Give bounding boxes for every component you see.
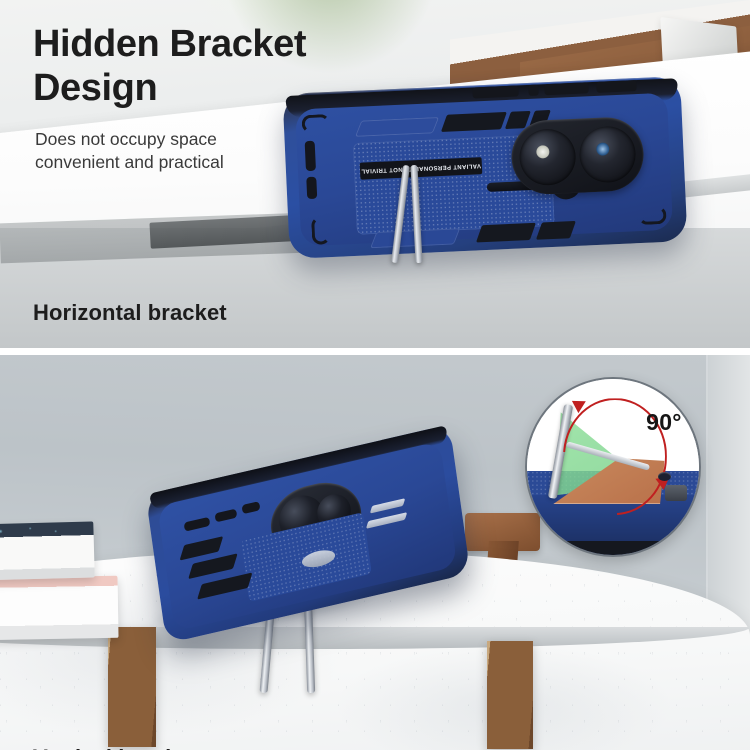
bottom-panel-vertical-bracket: Vertical bracket 90° <box>0 355 750 750</box>
case-button-cutout-2 <box>215 509 238 523</box>
case-vent-bottom-1 <box>476 223 536 243</box>
headline-line-2: Design <box>33 66 306 110</box>
angle-callout: 90° <box>525 377 701 557</box>
camera-lens-primary <box>518 128 576 186</box>
case-corner-bumper-top-left <box>301 114 330 133</box>
table-leg-left <box>108 627 156 747</box>
top-panel-horizontal-bracket: VALIANT PERSONALITY NOT TRIVIAL <box>0 0 750 348</box>
panel-divider <box>0 348 750 355</box>
angle-label: 90° <box>646 409 682 436</box>
case-side-button-lower <box>306 177 317 199</box>
case-vent-left-2 <box>188 553 238 579</box>
product-infographic: VALIANT PERSONALITY NOT TRIVIAL <box>0 0 750 750</box>
subheading-line-2: convenient and practical <box>35 151 224 174</box>
headline-line-1: Hidden Bracket <box>33 22 306 66</box>
callout-case-bottom-edge <box>527 541 699 555</box>
book-lower <box>0 576 119 640</box>
case-highlight-stripe-2 <box>366 512 407 529</box>
case-corner-bumper-bottom-left <box>311 216 330 245</box>
case-vent-left-3 <box>197 572 252 599</box>
case-vent-top-1 <box>441 112 507 132</box>
subheading: Does not occupy space convenient and pra… <box>35 128 224 175</box>
case-highlight-stripe-1 <box>370 498 405 513</box>
case-vent-bottom-2 <box>536 221 576 240</box>
subheading-line-1: Does not occupy space <box>35 128 224 151</box>
callout-case-notch <box>665 485 687 501</box>
case-side-button-upper <box>305 141 316 171</box>
case-vent-stripe-group-top <box>355 117 439 137</box>
case-corner-bumper-bottom-right <box>638 206 667 225</box>
book-upper <box>0 521 95 580</box>
case-button-cutout-3 <box>242 501 261 514</box>
camera-lens-secondary <box>578 125 636 183</box>
case-button-cutout-1 <box>184 517 211 532</box>
caption-horizontal-bracket: Horizontal bracket <box>33 300 227 326</box>
phone-case-horizontal: VALIANT PERSONALITY NOT TRIVIAL <box>282 76 687 259</box>
case-back-face: VALIANT PERSONALITY NOT TRIVIAL <box>295 93 673 247</box>
case-vent-left-1 <box>180 536 224 560</box>
table-leg-middle <box>487 641 533 749</box>
camera-module <box>510 116 645 196</box>
page-title: Hidden Bracket Design <box>33 22 306 110</box>
book-cover-art <box>0 524 88 538</box>
kickstand-horizontal <box>395 165 431 263</box>
caption-vertical-bracket: Vertical bracket <box>33 745 197 750</box>
